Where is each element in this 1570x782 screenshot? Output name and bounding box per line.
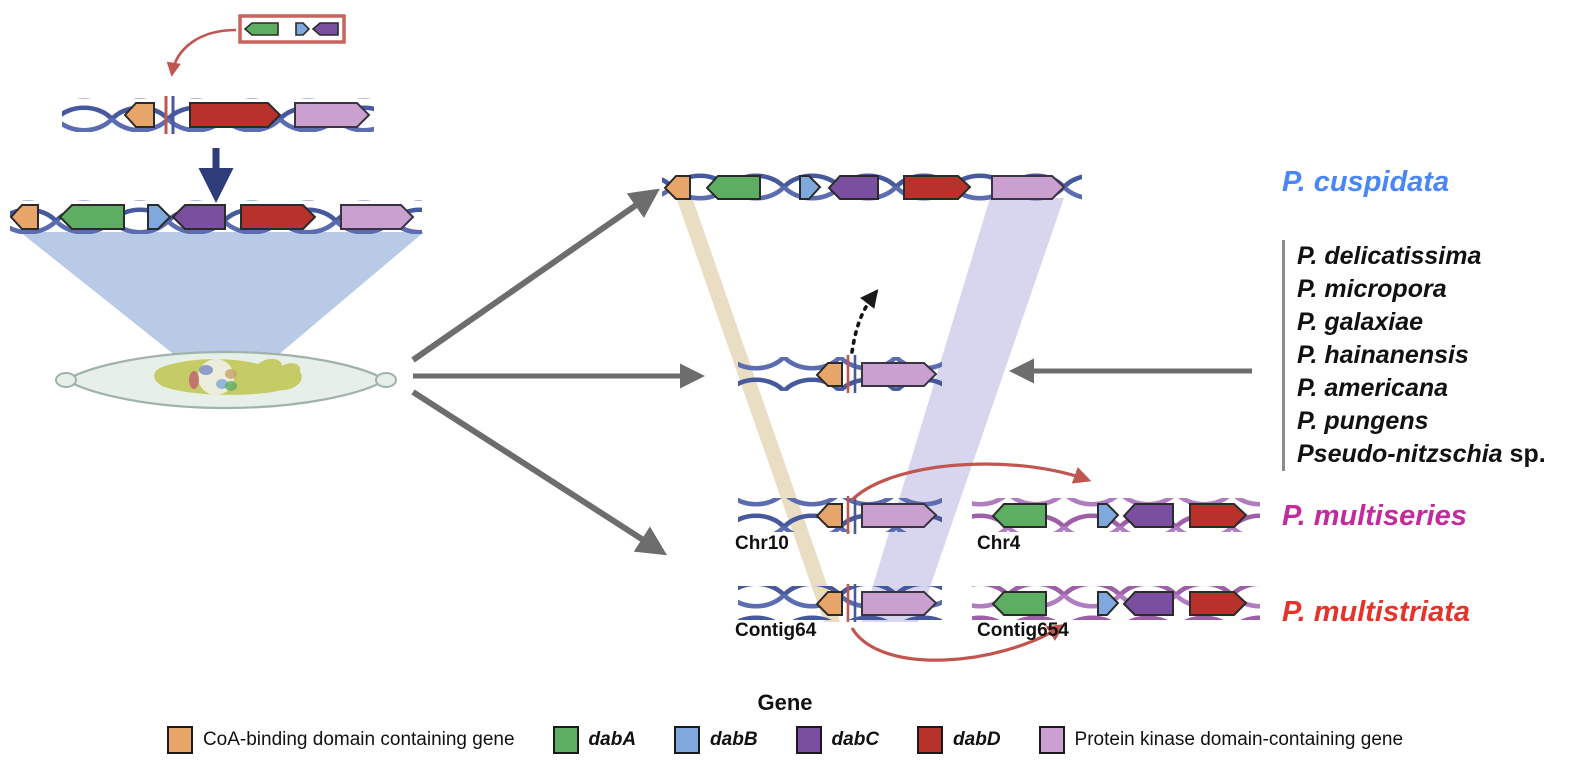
legend-title: Gene (0, 690, 1570, 716)
post-insertion-locus (10, 200, 422, 234)
organelle-tan (225, 369, 237, 379)
contig-label-chr10: Chr10 (735, 533, 789, 555)
multiseries-chr10-locus (738, 496, 942, 534)
legend-label-dabb: dabB (710, 729, 758, 751)
legend-item-coa-binding: CoA-binding domain containing gene (167, 726, 515, 754)
donor-cassette (240, 16, 344, 42)
species-list-item: P. pungens (1297, 405, 1546, 438)
gene-protein-kinase (862, 592, 936, 615)
synteny-ribbons (20, 197, 1064, 622)
other-species-list: P. delicatissima P. micropora P. galaxia… (1282, 240, 1546, 471)
genus-name: Pseudo-nitzschia (1297, 440, 1503, 468)
species-list-item: P. americana (1297, 372, 1546, 405)
species-list-item: P. hainanensis (1297, 339, 1546, 372)
species-label-multiseries: P. multiseries (1282, 500, 1467, 533)
legend: CoA-binding domain containing gene dabA … (0, 726, 1570, 754)
arrow-to-cuspidata (413, 192, 655, 360)
contig-label-contig654: Contig654 (977, 620, 1069, 642)
legend-swatch-dabb (674, 726, 700, 754)
gene-protein-kinase (992, 176, 1064, 199)
gene-dabd (1190, 592, 1246, 615)
legend-item-dabc: dabC (796, 726, 880, 754)
gene-dabd (241, 205, 315, 229)
insertion-arrow (172, 30, 236, 74)
legend-label-daba: dabA (589, 729, 637, 751)
contig-label-contig64: Contig64 (735, 620, 816, 642)
diatom-cell (56, 352, 396, 408)
gene-daba (993, 504, 1046, 527)
legend-swatch-coa-binding (167, 726, 193, 754)
organelle-green (225, 381, 237, 391)
sp-suffix: sp. (1503, 440, 1546, 468)
gene-dabd (904, 176, 970, 199)
multistriata-contig654-locus (972, 586, 1260, 620)
gene-protein-kinase (295, 103, 369, 127)
organelle-blue (199, 365, 213, 375)
acquisition-arrow (852, 292, 876, 352)
cell-tip-right (376, 373, 396, 387)
legend-label-dabc: dabC (832, 729, 880, 751)
legend-item-protein-kinase: Protein kinase domain-containing gene (1039, 726, 1404, 754)
contig-label-chr4: Chr4 (977, 533, 1020, 555)
gene-dabc (1124, 504, 1173, 527)
gene-dabd (1190, 504, 1246, 527)
legend-item-dabb: dabB (674, 726, 758, 754)
legend-swatch-dabc (796, 726, 822, 754)
gene-daba (60, 205, 124, 229)
legend-swatch-daba (553, 726, 579, 754)
gene-daba (707, 176, 760, 199)
ribbon-tan (676, 197, 840, 622)
gene-daba (993, 592, 1046, 615)
pre-insertion-locus (62, 96, 374, 134)
legend-label-dabd: dabD (953, 729, 1001, 751)
gene-protein-kinase (862, 504, 936, 527)
species-list-item-genus-sp: Pseudo-nitzschia sp. (1297, 438, 1546, 471)
gene-protein-kinase (341, 205, 413, 229)
figure-canvas: P. cuspidata P. multiseries P. multistri… (0, 0, 1570, 782)
species-list-item: P. galaxiae (1297, 306, 1546, 339)
multiseries-chr4-locus (972, 498, 1260, 532)
legend-swatch-protein-kinase (1039, 726, 1065, 754)
legend-swatch-dabd (917, 726, 943, 754)
cassette-gene-daba (245, 23, 278, 35)
species-list-item: P. delicatissima (1297, 240, 1546, 273)
species-label-cuspidata: P. cuspidata (1282, 166, 1449, 199)
species-label-multistriata: P. multistriata (1282, 596, 1470, 629)
legend-label-coa-binding: CoA-binding domain containing gene (203, 729, 515, 751)
gene-dabc (173, 205, 225, 229)
legend-item-dabd: dabD (917, 726, 1001, 754)
other-species-locus (738, 355, 942, 393)
multistriata-contig64-locus (738, 584, 942, 622)
legend-label-protein-kinase: Protein kinase domain-containing gene (1075, 729, 1404, 751)
organelle-pink (189, 371, 199, 389)
ribbon-lilac (862, 198, 1064, 622)
cell-tip-left (56, 373, 76, 387)
species-list-item: P. micropora (1297, 273, 1546, 306)
cuspidata-locus (662, 170, 1082, 204)
cassette-gene-dabc (313, 23, 338, 35)
gene-protein-kinase (862, 363, 936, 386)
gene-dabd (190, 103, 280, 127)
gene-dabc (829, 176, 878, 199)
arrow-to-multiseries-multistriata (413, 392, 662, 552)
legend-item-daba: dabA (553, 726, 637, 754)
gene-dabc (1124, 592, 1173, 615)
